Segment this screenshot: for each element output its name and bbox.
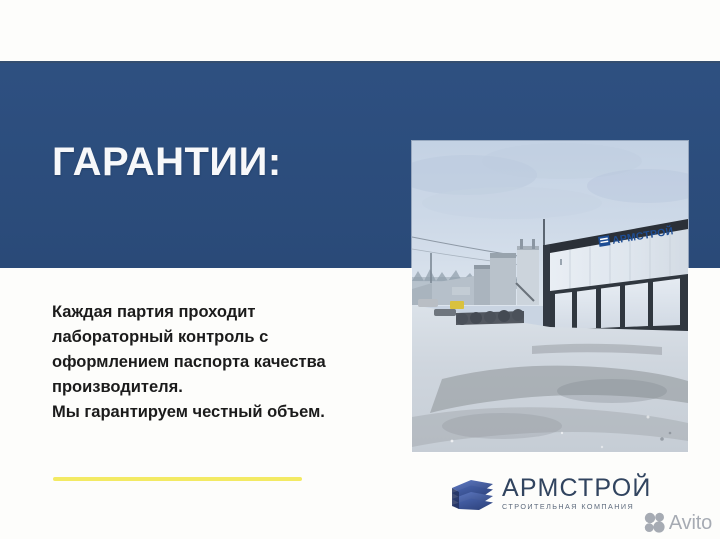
armstroy-mark-icon xyxy=(449,476,495,512)
body-copy: Каждая партия проходит лабораторный конт… xyxy=(52,300,397,425)
header-band-topline xyxy=(0,61,720,63)
company-logo: АРМСТРОЙ СТРОИТЕЛЬНАЯ КОМПАНИЯ xyxy=(449,471,664,516)
accent-underline xyxy=(53,477,302,481)
avito-watermark-text: Avito xyxy=(669,513,712,533)
body-line-5: Мы гарантируем честный объем. xyxy=(52,400,397,425)
logo-text-block: АРМСТРОЙ СТРОИТЕЛЬНАЯ КОМПАНИЯ xyxy=(502,475,652,512)
avito-dots-icon xyxy=(644,512,665,533)
promo-slide: ГАРАНТИИ: Каждая партия проходит лаборат… xyxy=(0,0,720,539)
logo-company-name: АРМСТРОЙ xyxy=(502,475,652,501)
logo-company-subtitle: СТРОИТЕЛЬНАЯ КОМПАНИЯ xyxy=(502,502,652,512)
site-photo-image: АРМСТРОЙ xyxy=(412,141,688,452)
page-title: ГАРАНТИИ: xyxy=(52,137,282,187)
body-line-1: Каждая партия проходит xyxy=(52,300,397,325)
avito-watermark: Avito xyxy=(644,512,712,533)
site-photo: АРМСТРОЙ xyxy=(412,141,688,452)
body-line-2: лабораторный контроль с xyxy=(52,325,397,350)
body-line-4: производителя. xyxy=(52,375,397,400)
body-line-3: оформлением паспорта качества xyxy=(52,350,397,375)
